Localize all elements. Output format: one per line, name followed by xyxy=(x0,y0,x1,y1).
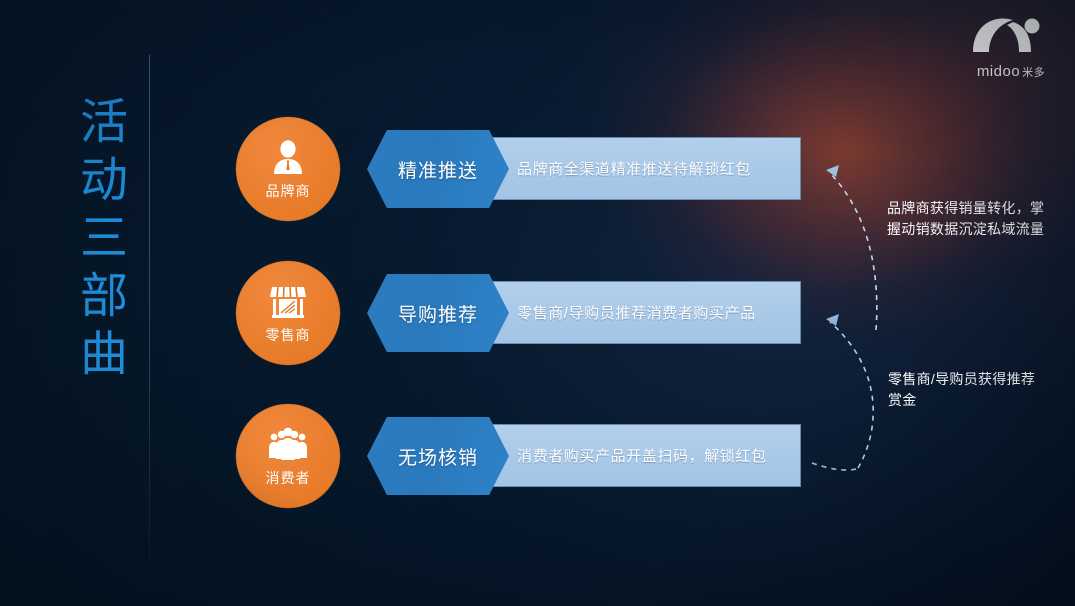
role-label: 零售商 xyxy=(266,325,311,345)
role-badge-retailer[interactable]: 零售商 xyxy=(236,261,340,365)
brand-name: midoo xyxy=(977,63,1020,80)
step-description-bar-3: 消费者购买产品开盖扫码，解锁红包 xyxy=(474,424,801,487)
stage-label: 精准推送 xyxy=(367,130,509,208)
person-icon xyxy=(268,138,308,178)
midoo-figure-logo-icon xyxy=(969,10,1053,58)
page-title: 活动三部曲 xyxy=(58,96,132,386)
connector-arrow-2 xyxy=(830,322,873,468)
step-description-bar-1: 品牌商全渠道精准推送待解锁红包 xyxy=(474,137,801,200)
people-group-icon xyxy=(268,425,308,465)
role-label: 品牌商 xyxy=(266,181,311,201)
role-label: 消费者 xyxy=(266,468,311,488)
brand-name-cn: 米多 xyxy=(1022,67,1045,79)
arrowhead-2 xyxy=(826,314,839,326)
brand-logo: midoo米多 xyxy=(963,10,1059,80)
stage-hexagon-1[interactable]: 精准推送 xyxy=(367,130,509,208)
vertical-divider xyxy=(149,55,150,563)
connector-arrow-1 xyxy=(830,173,877,330)
note-brand-benefit: 品牌商获得销量转化，掌握动销数据沉淀私域流量 xyxy=(887,198,1047,241)
stage-label: 导购推荐 xyxy=(367,274,509,352)
presentation-slide: midoo米多 活动三部曲 品牌商 品牌商全渠道精准推送待解锁红包 精准推送 xyxy=(0,0,1075,606)
step-description: 品牌商全渠道精准推送待解锁红包 xyxy=(517,158,751,179)
arrowhead-1 xyxy=(826,165,839,177)
storefront-icon xyxy=(268,282,308,322)
step-description: 零售商/导购员推荐消费者购买产品 xyxy=(517,302,756,323)
note-retailer-benefit: 零售商/导购员获得推荐赏金 xyxy=(888,369,1048,412)
stage-hexagon-3[interactable]: 无场核销 xyxy=(367,417,509,495)
step-description: 消费者购买产品开盖扫码，解锁红包 xyxy=(517,445,767,466)
stage-hexagon-2[interactable]: 导购推荐 xyxy=(367,274,509,352)
connector-arrow-3 xyxy=(812,463,860,470)
role-badge-consumer[interactable]: 消费者 xyxy=(236,404,340,508)
step-description-bar-2: 零售商/导购员推荐消费者购买产品 xyxy=(474,281,801,344)
role-badge-brand[interactable]: 品牌商 xyxy=(236,117,340,221)
stage-label: 无场核销 xyxy=(367,417,509,495)
brand-wordmark: midoo米多 xyxy=(963,63,1059,80)
